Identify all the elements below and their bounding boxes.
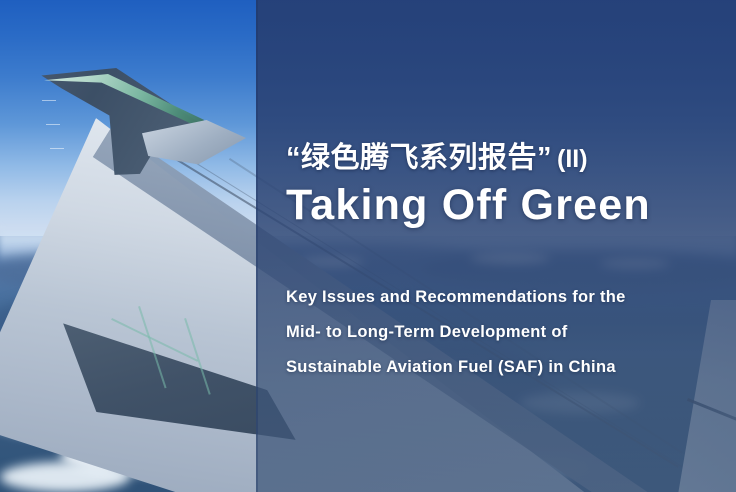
overlay-left-edge [256, 0, 258, 492]
winglet [38, 68, 208, 176]
vortex-generator [46, 124, 60, 125]
report-cover: “绿色腾飞系列报告”(II) Taking Off Green Key Issu… [0, 0, 736, 492]
main-title-english: Taking Off Green [286, 181, 651, 230]
subtitle-block: Key Issues and Recommendations for the M… [286, 280, 706, 385]
subtitle-line-3: Sustainable Aviation Fuel (SAF) in China [286, 350, 706, 385]
vortex-generator [50, 148, 64, 149]
series-title-chinese: “绿色腾飞系列报告”(II) [286, 134, 588, 176]
volume-number: (II) [552, 145, 588, 173]
cover-text-block: “绿色腾飞系列报告”(II) Taking Off Green Key Issu… [286, 0, 716, 492]
series-title-chinese-text: “绿色腾飞系列报告” [286, 142, 552, 174]
subtitle-line-1: Key Issues and Recommendations for the [286, 280, 706, 315]
vortex-generator [42, 100, 56, 101]
subtitle-line-2: Mid- to Long-Term Development of [286, 315, 706, 350]
